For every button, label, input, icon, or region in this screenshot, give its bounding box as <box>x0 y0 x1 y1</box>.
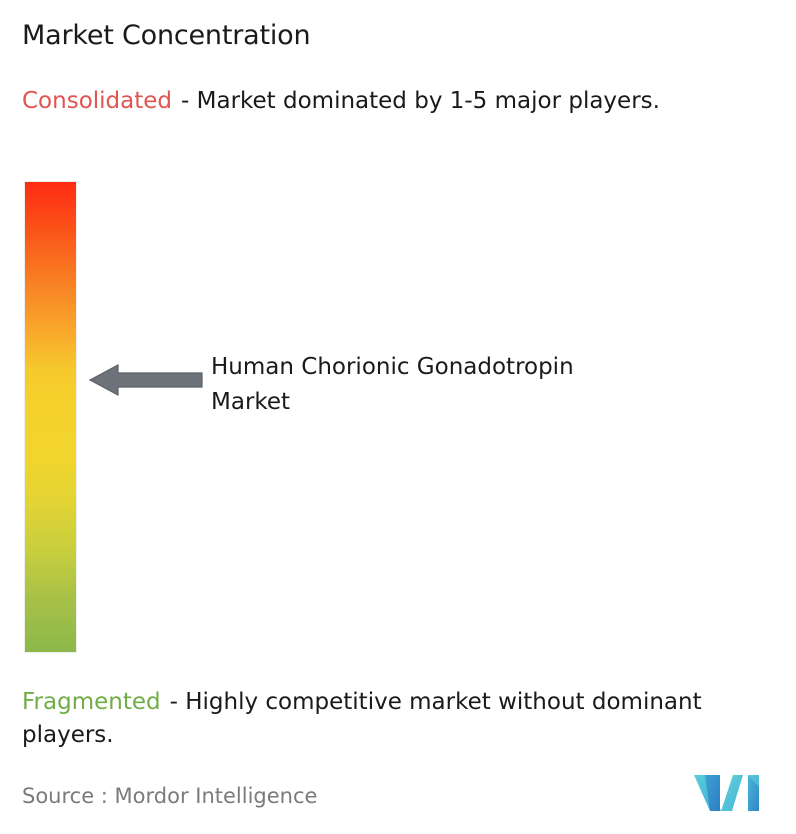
legend-consolidated-description: - Market dominated by 1-5 major players. <box>181 88 660 114</box>
market-label: Human Chorionic Gonadotropin Market <box>211 350 631 420</box>
legend-consolidated-term: Consolidated <box>22 88 172 114</box>
mordor-intelligence-logo-icon <box>693 771 773 815</box>
market-position-arrow <box>88 362 204 398</box>
legend-fragmented: Fragmented- Highly competitive market wi… <box>22 686 782 752</box>
concentration-gradient-bar <box>25 182 76 652</box>
left-arrow-icon <box>88 362 204 398</box>
legend-consolidated: Consolidated- Market dominated by 1-5 ma… <box>22 85 767 118</box>
source-label: Source : Mordor Intelligence <box>22 782 317 810</box>
market-concentration-infographic: Market Concentration Consolidated- Marke… <box>0 0 796 834</box>
mordor-intelligence-logo <box>693 771 773 815</box>
page-title: Market Concentration <box>22 19 310 53</box>
legend-fragmented-term: Fragmented <box>22 689 161 715</box>
